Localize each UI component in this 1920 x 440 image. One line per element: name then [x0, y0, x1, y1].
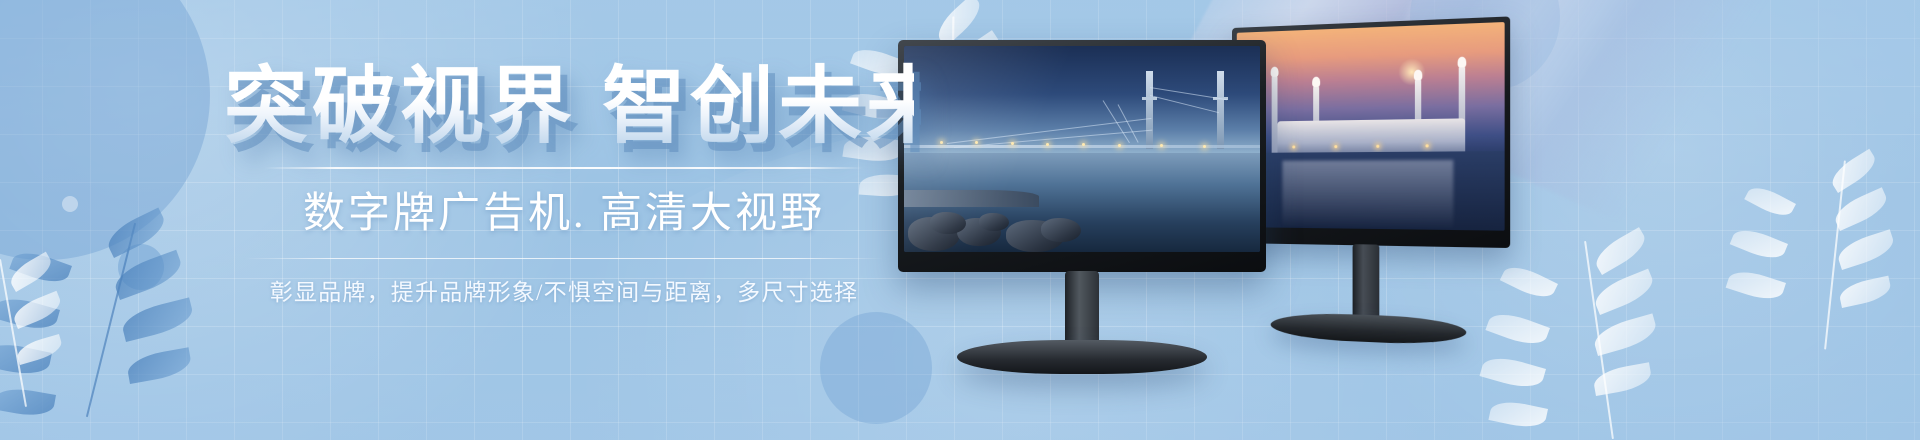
banner-copy: 突破视界智创未来 数字牌广告机. 高清大视野 彰显品牌，提升品牌形象/不惧空间与… — [214, 62, 914, 307]
monitor-secondary-stand-neck — [1353, 244, 1380, 319]
monitor-secondary: aoc — [1232, 16, 1510, 339]
screen-glare — [904, 46, 1260, 252]
bridge-scene-image — [904, 46, 1260, 252]
monitor-secondary-bezel — [1232, 16, 1510, 248]
decor-circle-small — [118, 244, 164, 290]
monitor-secondary-stand-base — [1271, 311, 1467, 346]
mosque-scene-image — [1237, 22, 1505, 231]
subtitle: 数字牌广告机. 高清大视野 — [214, 179, 914, 240]
promo-banner: 突破视界智创未来 数字牌广告机. 高清大视野 彰显品牌，提升品牌形象/不惧空间与… — [0, 0, 1920, 440]
decor-circle-large — [0, 0, 210, 260]
monitor-primary-screen — [904, 46, 1260, 252]
divider-primary — [264, 167, 864, 169]
headline-segment-1: 突破视界 — [224, 59, 576, 153]
monitor-secondary-screen — [1237, 22, 1505, 231]
tagline: 彰显品牌，提升品牌形象/不惧空间与距离，多尺寸选择 — [214, 273, 914, 307]
product-monitors: aoc — [880, 0, 1500, 440]
page-title: 突破视界智创未来 — [214, 62, 914, 151]
monitor-primary-stand-neck — [1065, 271, 1099, 349]
decor-dot — [62, 196, 78, 212]
headline-segment-2: 智创未来 — [602, 59, 954, 153]
monitor-primary-stand-base — [957, 340, 1207, 374]
divider-secondary — [244, 258, 884, 259]
leaf-cluster-far-right-icon — [1730, 150, 1920, 410]
